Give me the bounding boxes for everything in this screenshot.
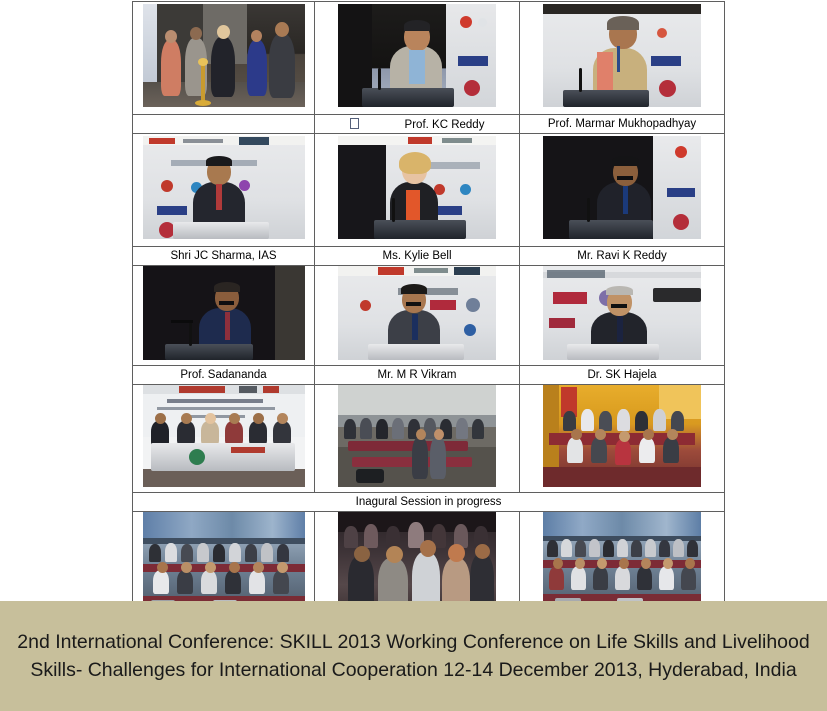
photo-cell-r1c1: [133, 2, 315, 115]
caption-row: Prof. KC Reddy Prof. Marmar Mukhopadhyay: [133, 115, 725, 134]
photo-mr-vikram: [338, 266, 496, 360]
caption-r2c3: Mr. Ravi K Reddy: [520, 247, 725, 266]
missing-glyph-box-icon: [350, 118, 359, 129]
photo-cell-r3c3: [520, 266, 725, 366]
photo-grid: Prof. KC Reddy Prof. Marmar Mukhopadhyay: [132, 1, 725, 622]
photo-cell-r1c3: [520, 2, 725, 115]
photo-row: [133, 134, 725, 247]
caption-r1c2-label: Prof. KC Reddy: [405, 119, 485, 131]
caption-r3c1: Prof. Sadananda: [133, 366, 315, 385]
photo-row: [133, 385, 725, 493]
photo-audience-standing: [338, 385, 496, 487]
photo-sk-hajela: [543, 266, 701, 360]
photo-kylie-bell: [338, 136, 496, 239]
photo-kc-reddy: [338, 4, 496, 107]
photo-row: [133, 2, 725, 115]
caption-r3c2: Mr. M R Vikram: [315, 366, 520, 385]
photo-lamp-lighting: [143, 4, 305, 107]
caption-row: Shri JC Sharma, IAS Ms. Kylie Bell Mr. R…: [133, 247, 725, 266]
caption-r2c2: Ms. Kylie Bell: [315, 247, 520, 266]
caption-row-merged: Inagural Session in progress: [133, 493, 725, 512]
conference-title-text: 2nd International Conference: SKILL 2013…: [14, 628, 813, 685]
page-root: Prof. KC Reddy Prof. Marmar Mukhopadhyay: [0, 0, 827, 711]
photo-row: [133, 266, 725, 366]
photo-marmar-mukhopadhyay: [543, 4, 701, 107]
caption-row: Prof. Sadananda Mr. M R Vikram Dr. SK Ha…: [133, 366, 725, 385]
photo-inaugural-dais: [143, 385, 305, 487]
photo-cell-r4c1: [133, 385, 315, 493]
caption-r3c3: Dr. SK Hajela: [520, 366, 725, 385]
caption-r1c1: [133, 115, 315, 134]
caption-r2c1: Shri JC Sharma, IAS: [133, 247, 315, 266]
photo-cell-r4c2: [315, 385, 520, 493]
caption-r1c3: Prof. Marmar Mukhopadhyay: [520, 115, 725, 134]
photo-cell-r3c1: [133, 266, 315, 366]
photo-cell-r4c3: [520, 385, 725, 493]
photo-cell-r2c1: [133, 134, 315, 247]
conference-title-banner: 2nd International Conference: SKILL 2013…: [0, 601, 827, 711]
photo-cell-r2c2: [315, 134, 520, 247]
caption-r1c2: Prof. KC Reddy: [315, 115, 520, 134]
photo-cell-r2c3: [520, 134, 725, 247]
caption-inaugural-session: Inagural Session in progress: [133, 493, 725, 512]
photo-jc-sharma: [143, 136, 305, 239]
photo-ravi-k-reddy: [543, 136, 701, 239]
photo-cell-r3c2: [315, 266, 520, 366]
photo-cell-r1c2: [315, 2, 520, 115]
photo-sadananda: [143, 266, 305, 360]
photo-delegates-gold-backdrop: [543, 385, 701, 487]
